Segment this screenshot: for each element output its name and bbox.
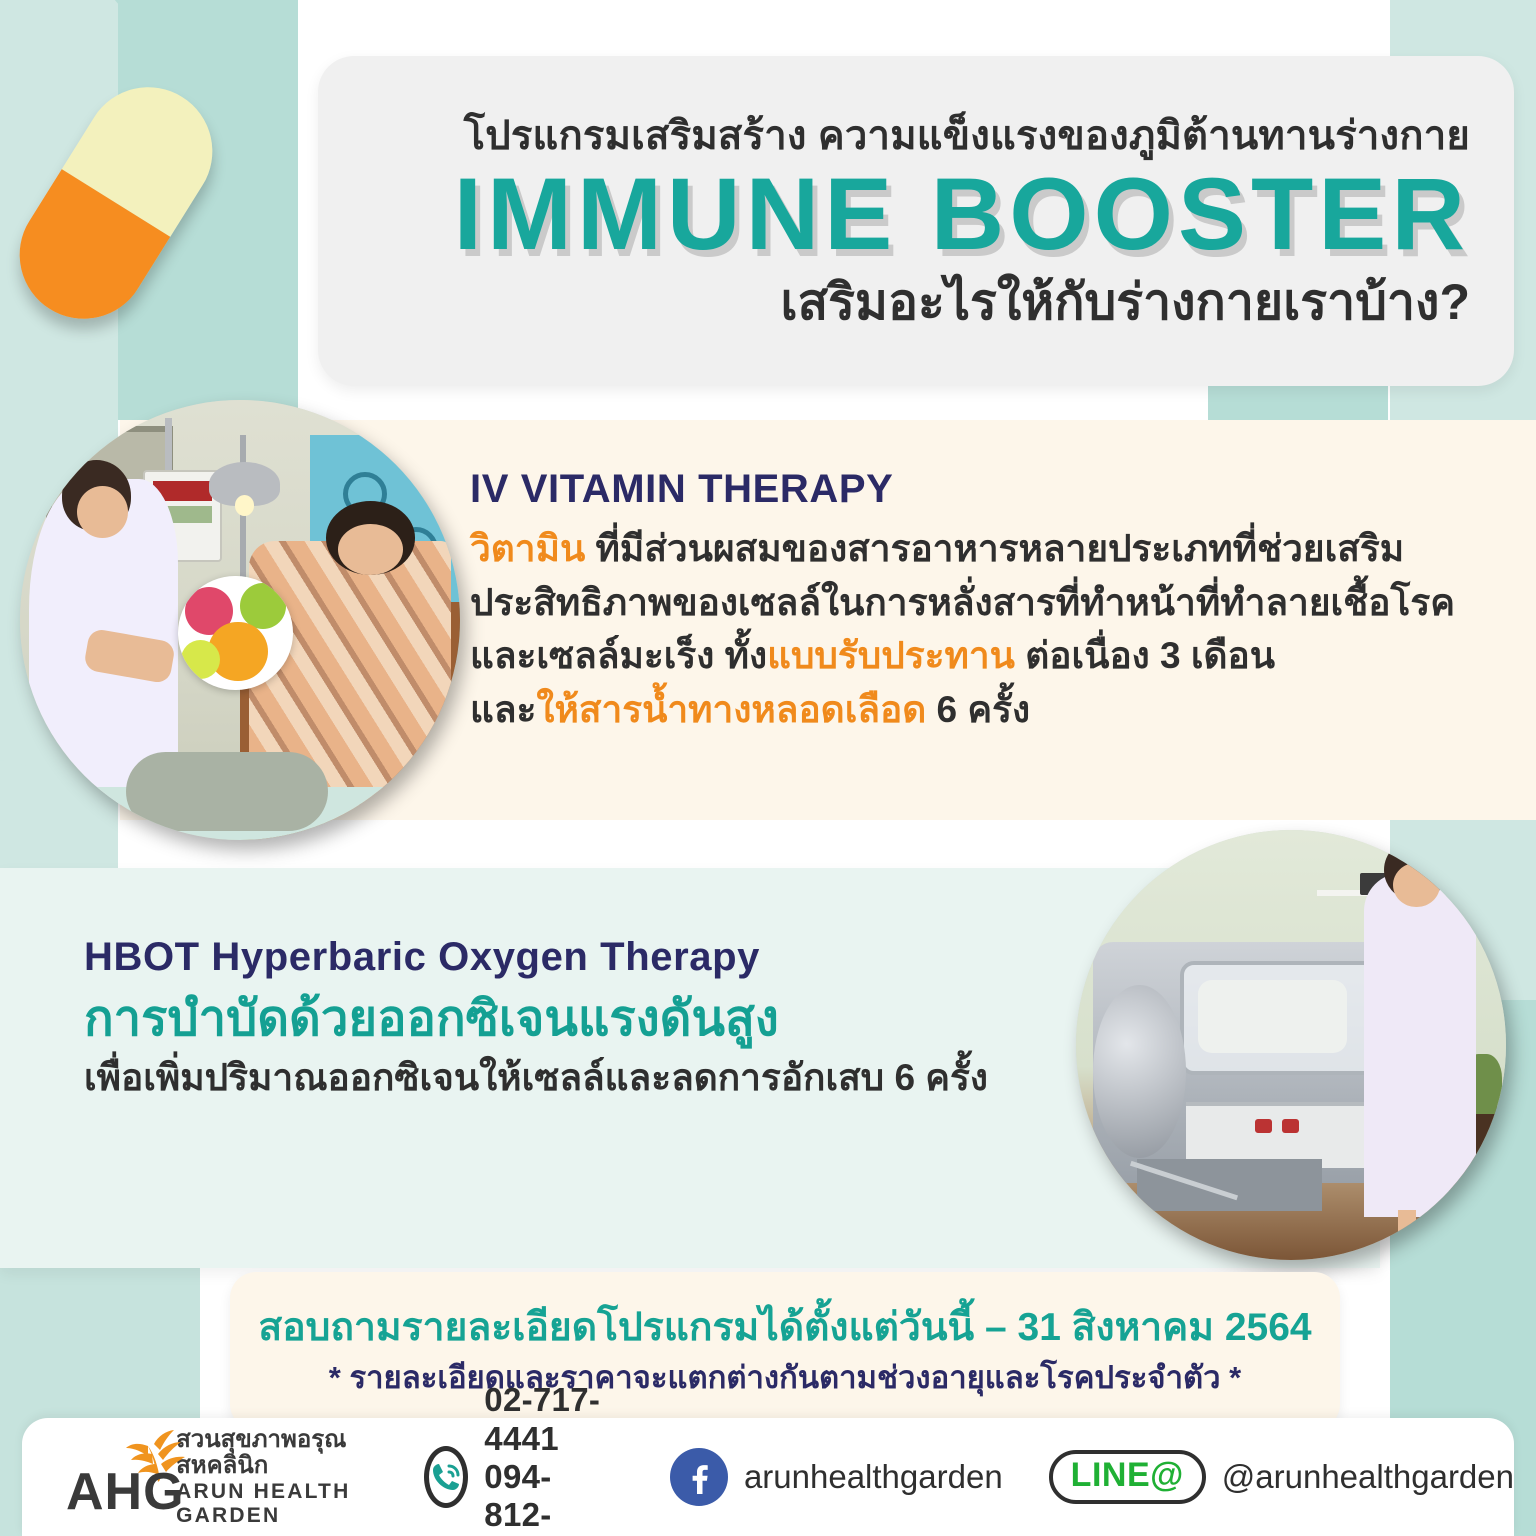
iv-body-line-3: และเซลล์มะเร็ง ทั้งแบบรับประทาน ต่อเนื่อ… [470,629,1500,683]
lemon-slice [181,640,220,679]
header-text-block: โปรแกรมเสริมสร้าง ความแข็งแรงของภูมิต้าน… [330,72,1506,372]
header-subtitle: เสริมอะไรให้กับร่างกายเราบ้าง? [781,275,1470,330]
iv-heading: IV VITAMIN THERAPY [470,466,1500,512]
iv-photo-lamp [209,462,279,506]
footer-bar: AHG สวนสุขภาพอรุณสหคลินิก ARUN HEALTH GA… [22,1418,1514,1536]
phone-number-1: 02-717-4441 [484,1381,614,1458]
lamp-bulb [235,495,255,516]
facebook-icon [670,1448,728,1506]
phone-numbers: 02-717-4441 094-812-7722 [484,1381,614,1536]
hbot-thai-title: การบำบัดด้วยออกซิเจนแรงดันสูง [84,990,1084,1049]
iv-line1-rest: ที่มีส่วนผสมของสารอาหารหลายประเภทที่ช่วย… [585,528,1404,569]
hbot-photo-illustration [1076,830,1506,1260]
facebook-contact[interactable]: arunhealthgarden [670,1448,1003,1506]
iv-body-line-1: วิตามิน ที่มีส่วนผสมของสารอาหารหลายประเภ… [470,522,1500,576]
phone-number-2: 094-812-7722 [484,1458,614,1536]
line-badge-icon: LINE@ [1049,1450,1206,1504]
chamber-knob-2 [1282,1119,1299,1133]
doctor-leg-right [1429,1210,1447,1260]
iv-line3-pre: และเซลล์มะเร็ง ทั้ง [470,635,767,676]
iv-photo-illustration [20,400,460,840]
citrus-fruit-bubble-icon [178,576,292,690]
chamber-patient [1198,980,1347,1052]
promo-card: สอบถามรายละเอียดโปรแกรมได้ตั้งแต่วันนี้ … [230,1272,1340,1430]
line-contact[interactable]: LINE@ @arunhealthgarden [1049,1450,1514,1504]
chamber-base [1137,1159,1323,1212]
line-handle: @arunhealthgarden [1222,1458,1514,1496]
iv-line4-post: 6 ครั้ง [926,689,1030,730]
facebook-handle: arunhealthgarden [744,1458,1003,1496]
iv-text-block: IV VITAMIN THERAPY วิตามิน ที่มีส่วนผสมข… [470,466,1500,737]
page-title: IMMUNE BOOSTER [454,162,1470,266]
hbot-text-block: HBOT Hyperbaric Oxygen Therapy การบำบัดด… [84,934,1084,1104]
hbot-heading: HBOT Hyperbaric Oxygen Therapy [84,934,1084,980]
brand-name-english: ARUN HEALTH GARDEN [176,1480,362,1527]
phone-ring-icon [424,1446,468,1508]
iv-photo-pillow [126,752,328,831]
chamber-door [1093,985,1186,1158]
brand-logo: AHG สวนสุขภาพอรุณสหคลินิก ARUN HEALTH GA… [66,1427,362,1528]
brand-name-thai: สวนสุขภาพอรุณสหคลินิก [176,1427,362,1481]
nurse-arm [83,628,176,685]
iv-line4-pre: และ [470,689,536,730]
hbot-description: เพื่อเพิ่มปริมาณออกซิเจนให้เซลล์และลดการ… [84,1051,1084,1105]
iv-highlight-infusion: ให้สารน้ำทางหลอดเลือด [536,689,926,730]
iv-line3-post: ต่อเนื่อง 3 เดือน [1015,635,1275,676]
hbot-therapy-photo [1076,830,1506,1260]
iv-highlight-oral: แบบรับประทาน [767,635,1015,676]
hbot-photo-doctor [1364,873,1476,1217]
chamber-knob-1 [1255,1119,1272,1133]
iv-therapy-photo [20,400,460,840]
nurse-face [77,486,128,538]
ahg-logo-mark: AHG [66,1434,162,1520]
poster-canvas: โปรแกรมเสริมสร้าง ความแข็งแรงของภูมิต้าน… [0,0,1536,1536]
header-kicker: โปรแกรมเสริมสร้าง ความแข็งแรงของภูมิต้าน… [464,114,1470,158]
ahg-letters: AHG [66,1466,185,1518]
patient-face [338,524,403,575]
iv-body-line-4: และให้สารน้ำทางหลอดเลือด 6 ครั้ง [470,683,1500,737]
lime-slice [240,583,286,629]
iv-body-line-2: ประสิทธิภาพของเซลล์ในการหลั่งสารที่ทำหน้… [470,576,1500,630]
doctor-face [1393,863,1440,908]
doctor-leg-left [1398,1210,1416,1260]
phone-contact[interactable]: 02-717-4441 094-812-7722 [424,1381,614,1536]
iv-highlight-vitamin: วิตามิน [470,528,585,569]
brand-name-block: สวนสุขภาพอรุณสหคลินิก ARUN HEALTH GARDEN [176,1427,362,1528]
promo-deadline-text: สอบถามรายละเอียดโปรแกรมได้ตั้งแต่วันนี้ … [258,1304,1311,1353]
hyperbaric-chamber [1093,942,1403,1183]
